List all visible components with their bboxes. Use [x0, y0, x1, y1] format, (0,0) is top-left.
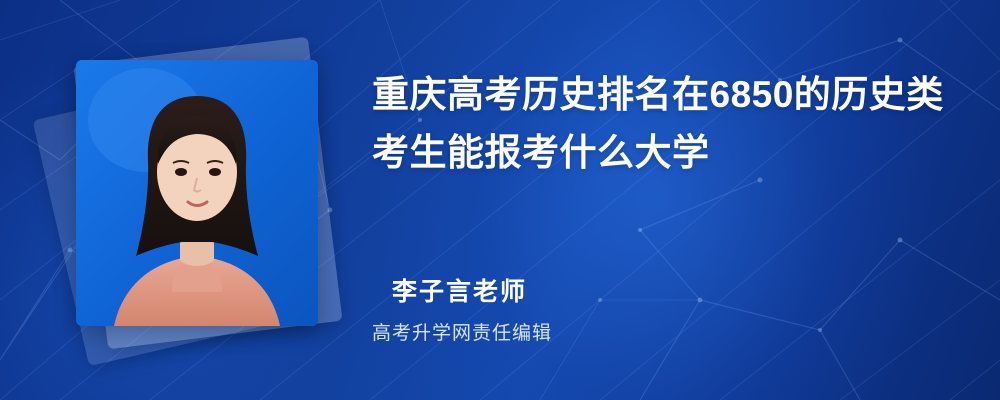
teacher-portrait-photo: [76, 60, 318, 326]
author-role: 高考升学网责任编辑: [372, 318, 552, 345]
author-name: 李子言老师: [392, 272, 527, 308]
portrait-illustration: [76, 60, 318, 326]
headline-block: 重庆高考历史排名在6850的历史类 考生能报考什么大学: [372, 66, 962, 182]
headline-line-1: 重庆高考历史排名在6850的历史类: [372, 66, 962, 124]
article-cover-banner: 重庆高考历史排名在6850的历史类 考生能报考什么大学 李子言老师 高考升学网责…: [0, 0, 1000, 400]
photo-card-stack: [52, 28, 352, 358]
headline-line-2: 考生能报考什么大学: [372, 124, 962, 182]
